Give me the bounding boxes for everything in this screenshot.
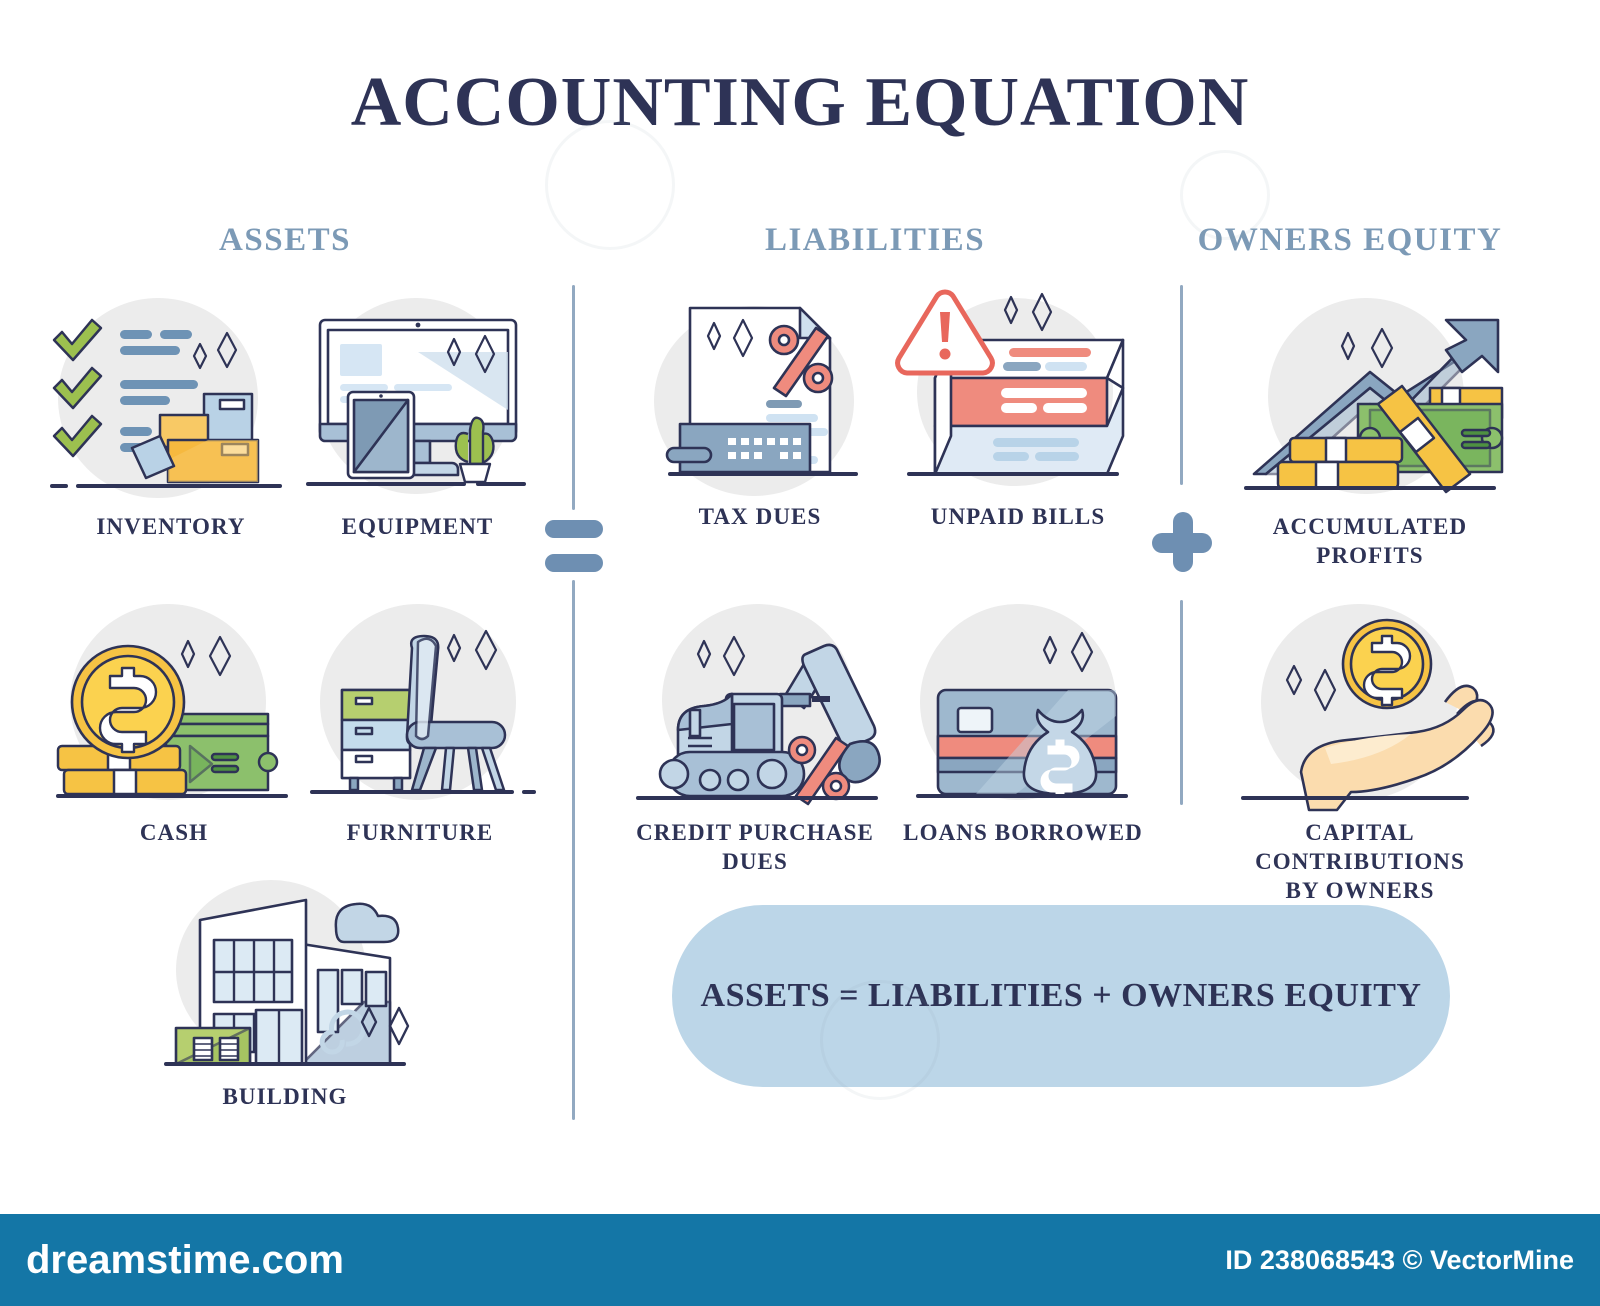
footer-bar: dreamstime.com ID 238068543 © VectorMine	[0, 1214, 1600, 1306]
item-accumulated-profits: ACCUMULATED PROFITS	[1230, 292, 1510, 571]
divider-liabilities-equity-top	[1180, 285, 1183, 485]
item-label-credit-purchase-dues: CREDIT PURCHASE DUES	[620, 819, 890, 877]
item-label-building: BUILDING	[150, 1083, 420, 1112]
accumulated-profits-art	[1230, 292, 1510, 507]
divider-assets-liabilities-top	[572, 285, 575, 510]
cabinet-chair-icon	[300, 598, 540, 813]
item-label-capital-contributions: CAPITAL CONTRIBUTIONS BY OWNERS	[1205, 819, 1515, 905]
item-unpaid-bills: UNPAID BILLS	[893, 282, 1143, 532]
stacked-bills-warning-icon	[893, 282, 1143, 497]
coin-banknotes-icon	[50, 598, 298, 813]
item-label-cash: CASH	[50, 819, 298, 848]
equals-sign-icon	[545, 520, 603, 588]
capital-contributions-art	[1205, 598, 1515, 813]
tax-dues-art	[630, 282, 890, 497]
building-art	[150, 862, 420, 1077]
loans-borrowed-art	[898, 598, 1148, 813]
item-loans-borrowed: LOANS BORROWED	[898, 598, 1148, 848]
item-label-unpaid-bills: UNPAID BILLS	[893, 503, 1143, 532]
unpaid-bills-art	[893, 282, 1143, 497]
desktop-monitor-tablet-icon	[300, 292, 535, 507]
tax-document-percent-icon	[630, 282, 890, 497]
hand-holding-coin-icon	[1205, 598, 1515, 813]
divider-assets-liabilities-bottom	[572, 580, 575, 1120]
office-building-icon	[150, 862, 420, 1077]
equation-banner: ASSETS = LIABILITIES + OWNERS EQUITY	[672, 905, 1450, 1087]
furniture-art	[300, 598, 540, 813]
inventory-checklist-boxes-icon	[42, 292, 300, 507]
equation-text: ASSETS = LIABILITIES + OWNERS EQUITY	[701, 977, 1422, 1015]
infographic-canvas: ACCOUNTING EQUATION ASSETS LIABILITIES O…	[0, 0, 1600, 1306]
item-credit-purchase-dues: CREDIT PURCHASE DUES	[620, 598, 890, 877]
item-building: BUILDING	[150, 862, 420, 1112]
divider-liabilities-equity-bottom	[1180, 600, 1183, 805]
credit-card-money-bag-icon	[898, 598, 1148, 813]
column-header-owners-equity: OWNERS EQUITY	[1185, 222, 1515, 259]
column-header-assets: ASSETS	[150, 222, 420, 259]
credit-purchase-art	[620, 598, 890, 813]
plus-sign-icon	[1152, 512, 1212, 572]
item-tax-dues: TAX DUES	[630, 282, 890, 532]
equipment-art	[300, 292, 535, 507]
growth-arrow-money-icon	[1230, 292, 1510, 507]
excavator-percent-icon	[620, 598, 890, 813]
inventory-art	[42, 292, 300, 507]
column-header-liabilities: LIABILITIES	[740, 222, 1010, 259]
item-cash: CASH	[50, 598, 298, 848]
item-label-accumulated-profits: ACCUMULATED PROFITS	[1230, 513, 1510, 571]
item-equipment: EQUIPMENT	[300, 292, 535, 542]
cash-art	[50, 598, 298, 813]
item-furniture: FURNITURE	[300, 598, 540, 848]
item-label-loans-borrowed: LOANS BORROWED	[898, 819, 1148, 848]
item-label-tax-dues: TAX DUES	[630, 503, 890, 532]
item-capital-contributions: CAPITAL CONTRIBUTIONS BY OWNERS	[1205, 598, 1515, 905]
footer-brand: dreamstime.com	[26, 1238, 344, 1283]
item-label-furniture: FURNITURE	[300, 819, 540, 848]
footer-id: ID 238068543 © VectorMine	[1225, 1245, 1574, 1276]
item-label-inventory: INVENTORY	[42, 513, 300, 542]
item-inventory: INVENTORY	[42, 292, 300, 542]
page-title: ACCOUNTING EQUATION	[0, 68, 1600, 138]
item-label-equipment: EQUIPMENT	[300, 513, 535, 542]
